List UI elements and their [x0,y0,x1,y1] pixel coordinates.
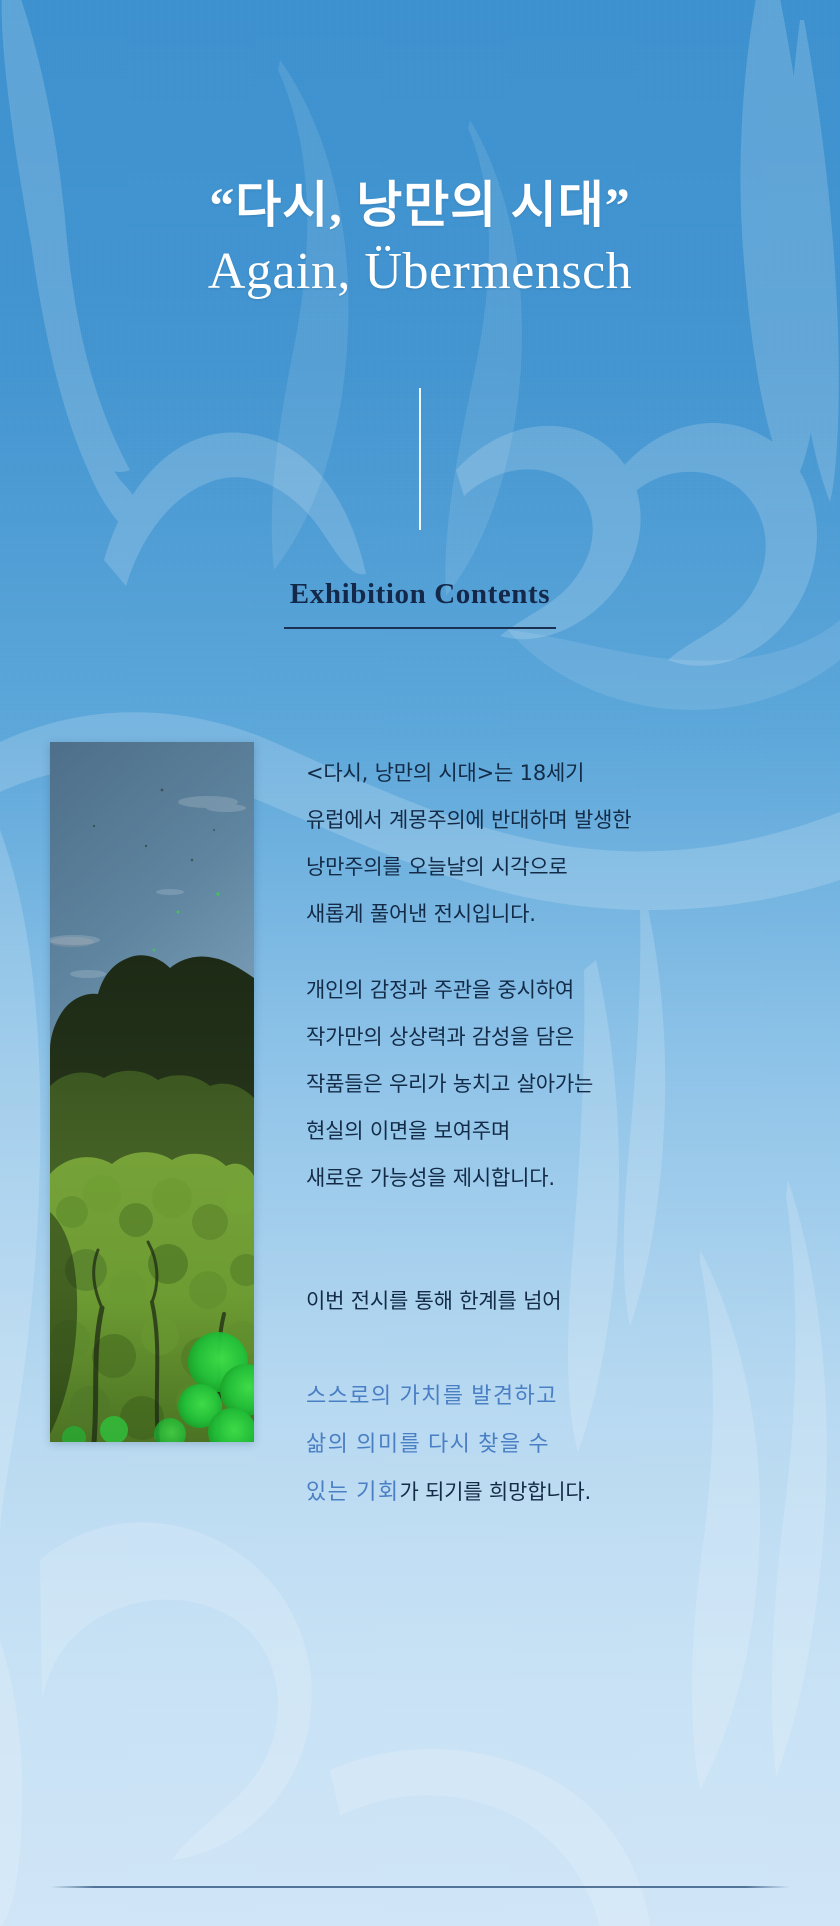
poster-title-korean: “다시, 낭만의 시대” [0,176,840,235]
exhibition-description: <다시, 낭만의 시대>는 18세기 유럽에서 계몽주의에 반대하며 발생한 낭… [306,742,840,1516]
vertical-divider [419,388,421,530]
poster-title-block: “다시, 낭만의 시대” Again, Übermensch [0,176,840,303]
exhibition-poster: “다시, 낭만의 시대” Again, Übermensch Exhibitio… [0,0,840,1926]
footer-divider [50,1886,790,1888]
content-row: <다시, 낭만의 시대>는 18세기 유럽에서 계몽주의에 반대하며 발생한 낭… [0,742,840,1516]
description-paragraph-2: 개인의 감정과 주관을 중시하여 작가만의 상상력과 감성을 담은 작품들은 우… [306,967,840,1202]
description-paragraph-3: 이번 전시를 통해 한계를 넘어 스스로의 가치를 발견하고 삶의 의미를 다시… [306,1231,840,1516]
section-heading: Exhibition Contents [0,578,840,629]
paragraph-3-lead: 이번 전시를 통해 한계를 넘어 [306,1289,561,1313]
poster-title-english: Again, Übermensch [0,241,840,303]
section-heading-label: Exhibition Contents [284,578,556,629]
paragraph-3-tail: 가 되기를 희망합니다. [399,1480,591,1504]
description-paragraph-1: <다시, 낭만의 시대>는 18세기 유럽에서 계몽주의에 반대하며 발생한 낭… [306,750,840,938]
exhibition-photo [50,742,254,1442]
